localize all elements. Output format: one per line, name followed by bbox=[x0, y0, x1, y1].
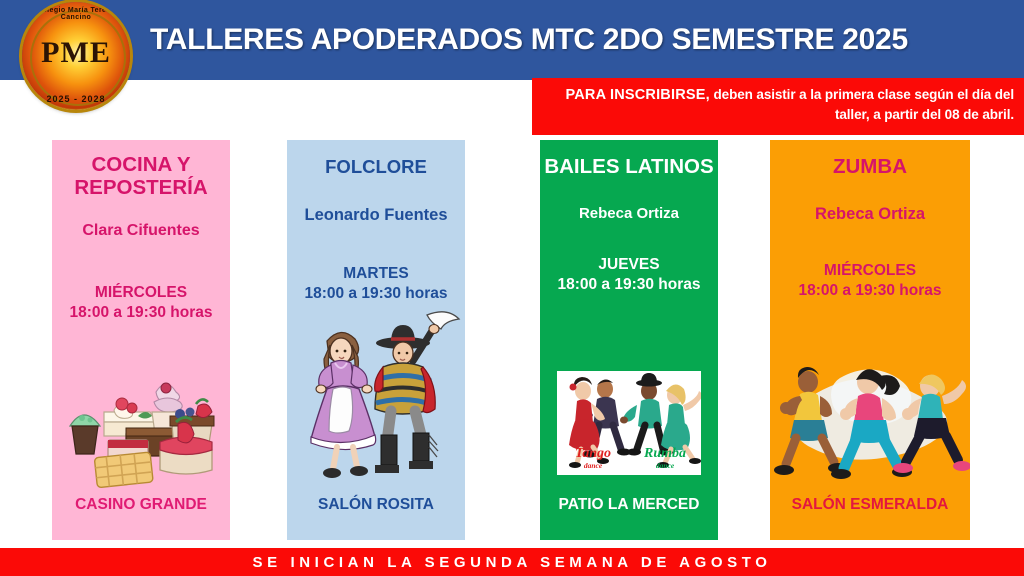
footer-banner: SE INICIAN LA SEGUNDA SEMANA DE AGOSTO bbox=[0, 548, 1024, 576]
workshop-venue: SALÓN ROSITA bbox=[287, 496, 465, 514]
workshop-card-cocina[interactable]: COCINA Y REPOSTERÍA Clara Cifuentes MIÉR… bbox=[52, 140, 230, 540]
workshop-time: 18:00 a 19:30 horas bbox=[69, 304, 212, 322]
page-title: TALLERES APODERADOS MTC 2DO SEMESTRE 202… bbox=[150, 0, 908, 80]
notice-body-text: deben asistir a la primera clase según e… bbox=[710, 87, 1014, 122]
workshop-title: BAILES LATINOS bbox=[544, 156, 713, 179]
workshop-venue: PATIO LA MERCED bbox=[540, 496, 718, 514]
workshop-title: COCINA Y REPOSTERÍA bbox=[52, 154, 230, 200]
poster-root: Colegio María Teresa Cancino PME 2025 - … bbox=[0, 0, 1024, 576]
logo-arc-bottom-text: 2025 - 2028 bbox=[22, 94, 130, 104]
inscription-notice: PARA INSCRIBIRSE, deben asistir a la pri… bbox=[532, 78, 1024, 135]
workshop-day: MARTES bbox=[343, 265, 408, 283]
workshop-day: JUEVES bbox=[598, 256, 659, 274]
workshop-card-zumba[interactable]: ZUMBA Rebeca Ortiza MIÉRCOLES 18:00 a 19… bbox=[770, 140, 970, 540]
workshop-venue: SALÓN ESMERALDA bbox=[770, 496, 970, 514]
school-logo: Colegio María Teresa Cancino PME 2025 - … bbox=[22, 2, 130, 110]
workshop-title: FOLCLORE bbox=[325, 157, 427, 178]
workshop-title: ZUMBA bbox=[833, 156, 907, 179]
tango-rumba-illustration: Tango dance Rumba dance bbox=[554, 368, 704, 478]
workshop-time: 18:00 a 19:30 horas bbox=[798, 282, 941, 300]
logo-monogram: PME bbox=[22, 36, 130, 70]
pastries-illustration bbox=[52, 354, 230, 489]
cueca-dancers-illustration bbox=[287, 305, 465, 490]
zumba-dancers-illustration bbox=[770, 352, 970, 492]
workshop-teacher: Rebeca Ortiza bbox=[815, 205, 925, 224]
workshop-card-bailes[interactable]: BAILES LATINOS Rebeca Ortiza JUEVES 18:0… bbox=[540, 140, 718, 540]
workshop-time: 18:00 a 19:30 horas bbox=[304, 285, 447, 303]
workshop-teacher: Leonardo Fuentes bbox=[304, 206, 447, 225]
workshop-teacher: Rebeca Ortiza bbox=[579, 205, 679, 222]
logo-arc-top-text: Colegio María Teresa Cancino bbox=[22, 7, 130, 21]
workshop-day: MIÉRCOLES bbox=[95, 284, 187, 302]
workshop-card-folclore[interactable]: FOLCLORE Leonardo Fuentes MARTES 18:00 a… bbox=[287, 140, 465, 540]
workshop-teacher: Clara Cifuentes bbox=[82, 222, 199, 240]
workshop-time: 18:00 a 19:30 horas bbox=[557, 276, 700, 294]
workshop-day: MIÉRCOLES bbox=[824, 262, 916, 280]
workshop-venue: CASINO GRANDE bbox=[52, 496, 230, 514]
notice-lead-text: PARA INSCRIBIRSE, bbox=[565, 87, 709, 103]
footer-text: SE INICIAN LA SEGUNDA SEMANA DE AGOSTO bbox=[253, 554, 772, 571]
tango-label: Tango dance bbox=[557, 447, 629, 470]
rumba-label: Rumba dance bbox=[629, 447, 701, 470]
